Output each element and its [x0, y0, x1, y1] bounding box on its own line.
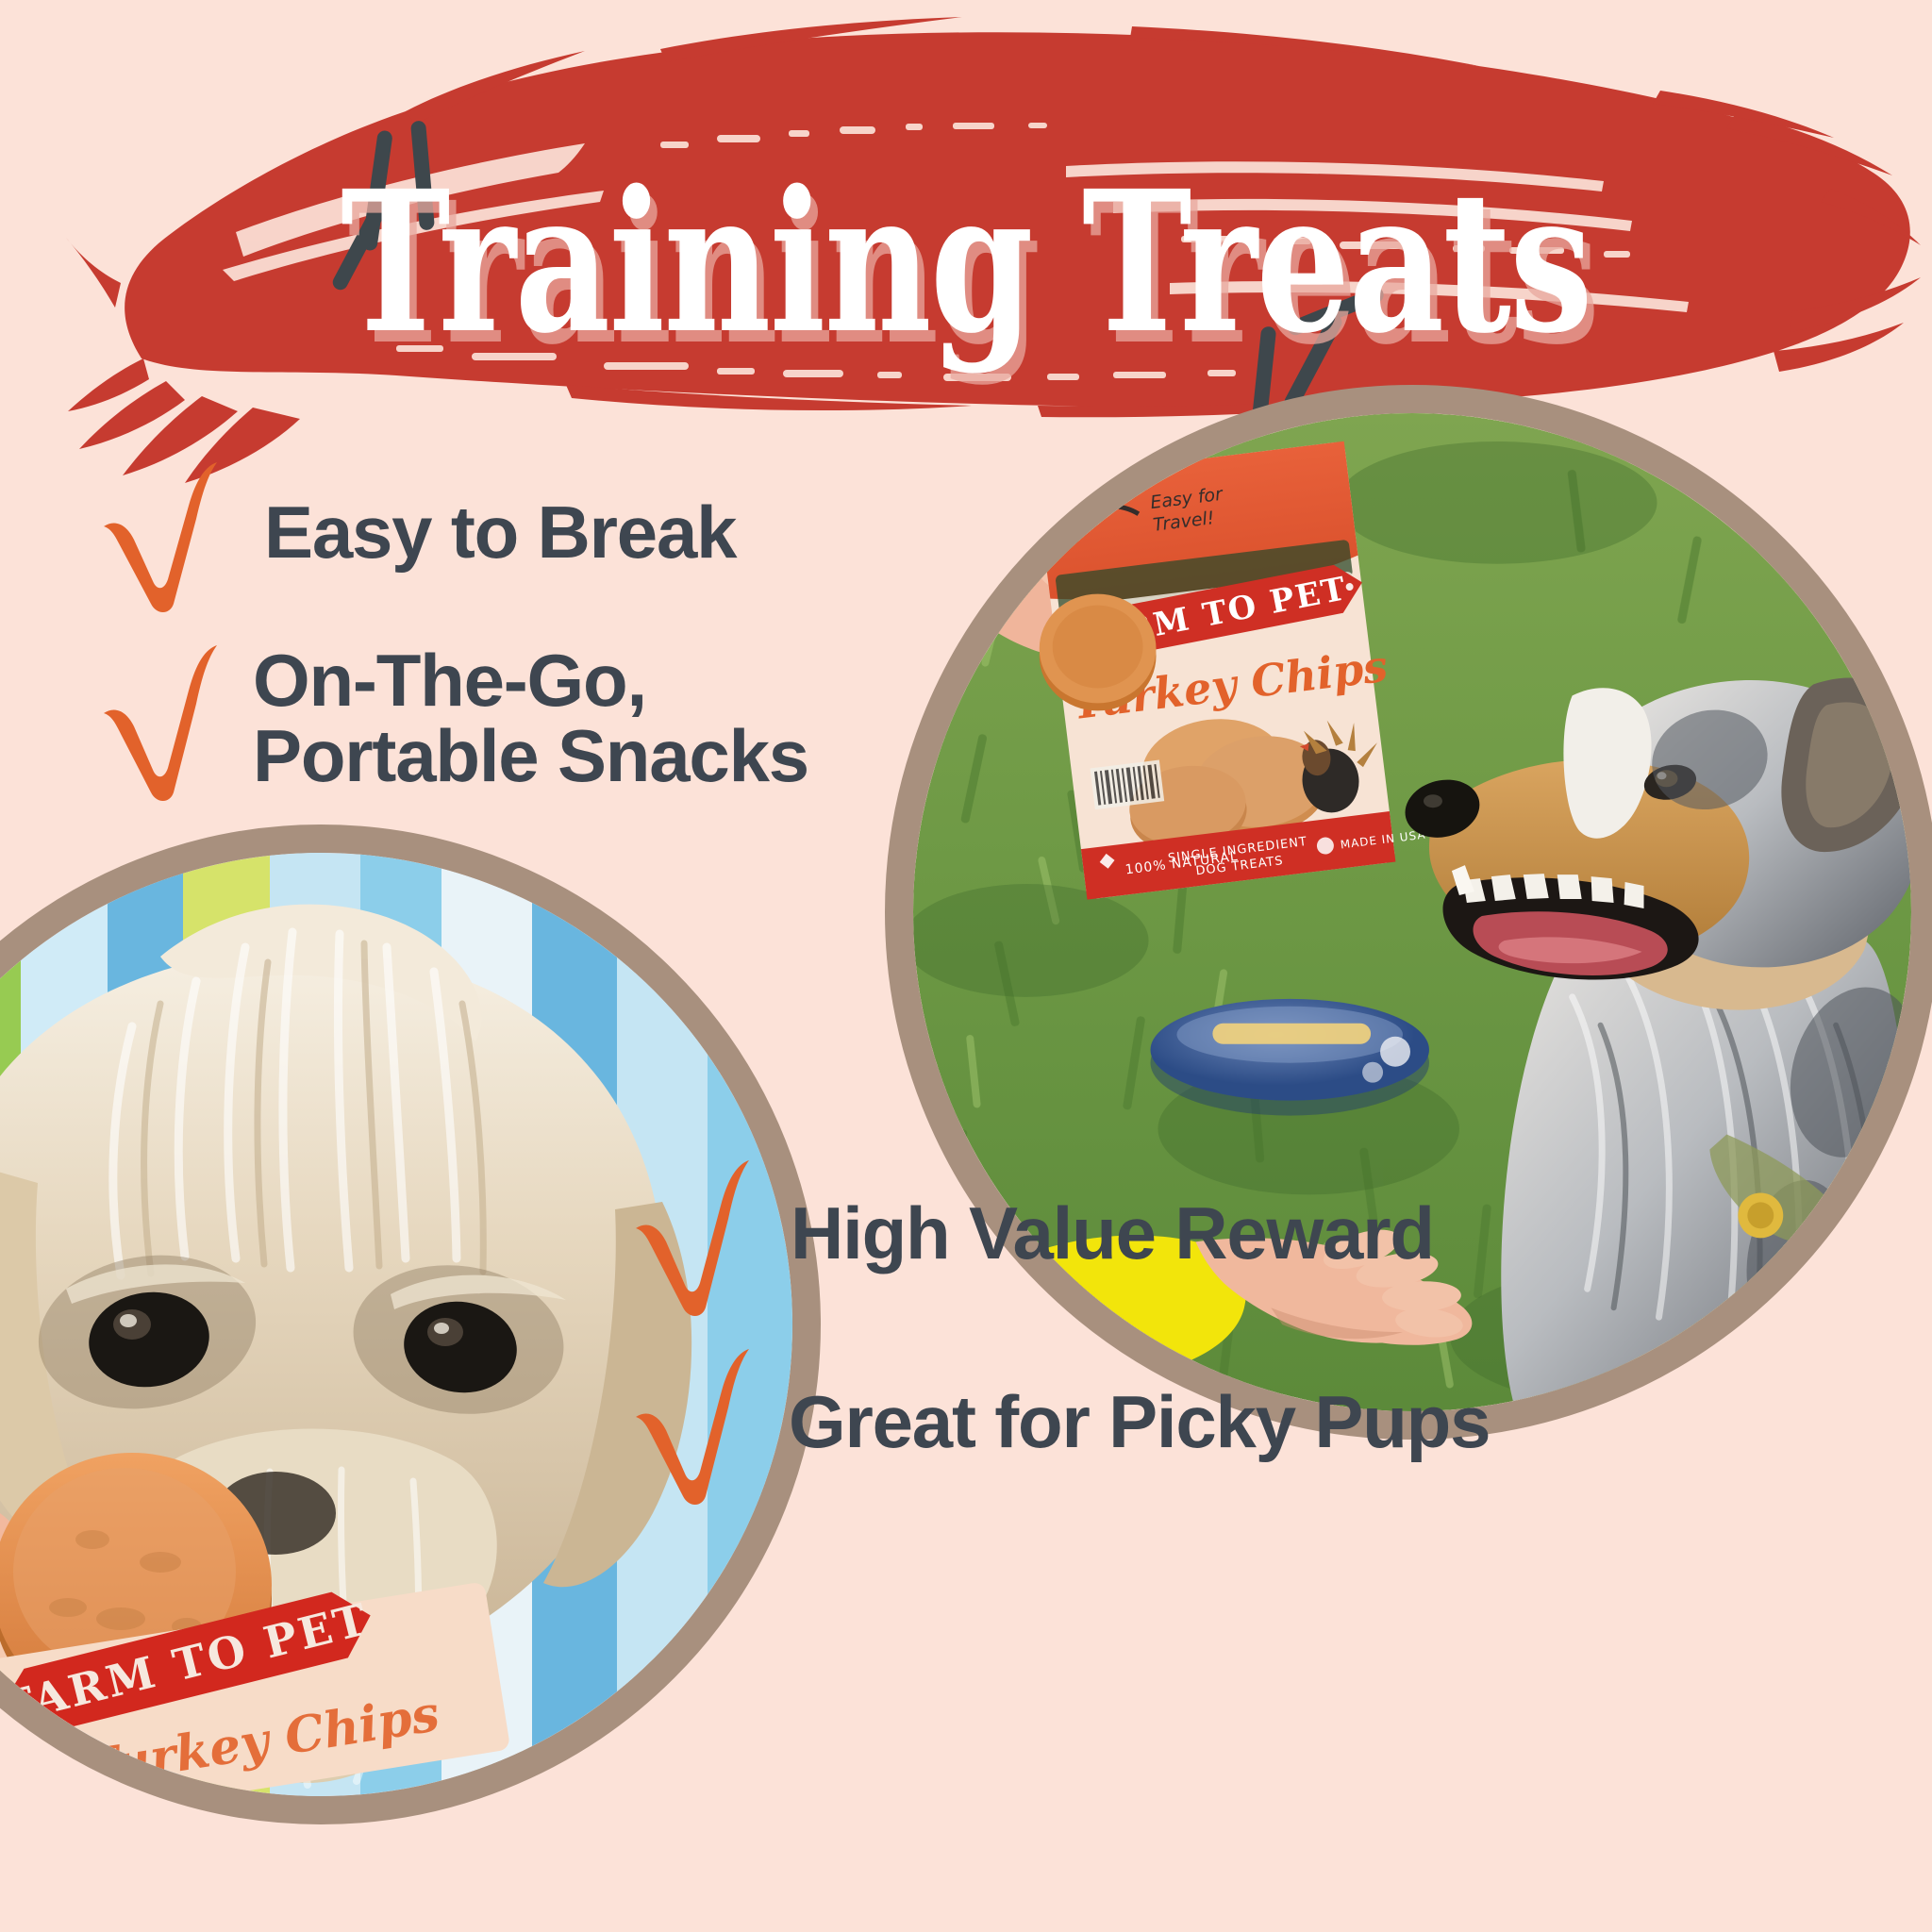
bag-barcode	[1091, 760, 1165, 810]
check-icon	[91, 634, 232, 804]
treat-chip-in-hand	[1040, 594, 1157, 711]
photo-terrier-with-chip: FARM TO PET Turkey Chips	[0, 824, 821, 1824]
bullet-easy-to-break: Easy to Break	[91, 453, 921, 613]
terrier-treat-scene: FARM TO PET Turkey Chips	[0, 853, 792, 1796]
check-icon	[91, 453, 232, 613]
check-icon	[623, 1149, 764, 1319]
bullet-label: Great for Picky Pups	[789, 1385, 1490, 1460]
bullet-great-for-picky-pups: Great for Picky Pups	[623, 1338, 1915, 1507]
bullet-on-the-go: On-The-Go, Portable Snacks	[91, 634, 940, 804]
blue-frisbee	[1151, 999, 1429, 1116]
poster-canvas: Training Treats Easy to Break On-The-Go,…	[0, 0, 1932, 1932]
photo-inner: FARM TO PET Turkey Chips	[0, 853, 792, 1796]
bullet-label: Easy to Break	[264, 495, 736, 571]
check-icon	[623, 1338, 764, 1507]
bullet-label: High Value Reward	[791, 1196, 1434, 1272]
bullet-high-value-reward: High Value Reward	[623, 1149, 1906, 1319]
bullet-label: On-The-Go, Portable Snacks	[253, 643, 808, 793]
